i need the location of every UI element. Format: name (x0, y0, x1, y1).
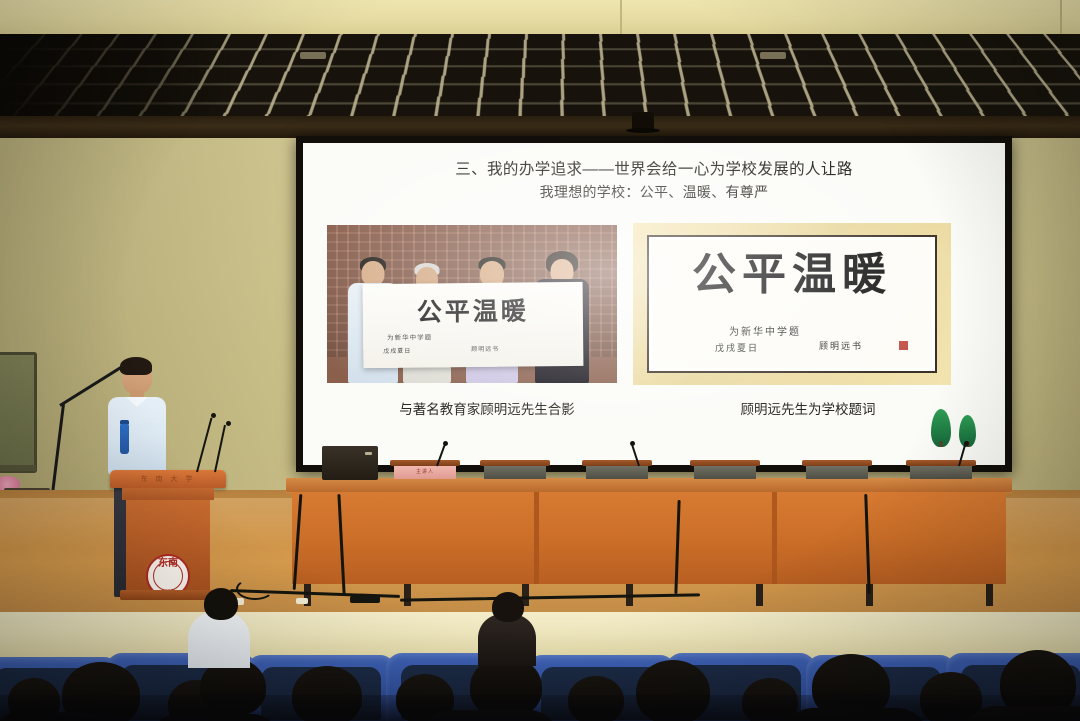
slide-photo-group: 公平温暖 为新华中学题 戊戌夏日 顾明远书 (327, 225, 617, 383)
slide-artwork: 公平温暖 为新华中学题 戊戌夏日 顾明远书 (633, 223, 951, 385)
podium-body: 东南 1902 (126, 500, 210, 592)
name-card-text: 主讲人 (394, 466, 456, 479)
table-microphone-head-1 (443, 441, 448, 446)
laptop (322, 446, 378, 480)
name-card-holder-4 (690, 460, 760, 480)
front-row-person-body (188, 612, 250, 668)
auditorium-scene: 三、我的办学追求——世界会给一心为学校发展的人让路 我理想的学校：公平、温暖、有… (0, 0, 1080, 721)
emblem-character: 东南 (148, 559, 188, 569)
water-bottle (120, 424, 129, 454)
stage-cable-loop (236, 578, 274, 600)
presenter-shirt (108, 397, 166, 475)
ceiling-projector-icon (632, 112, 654, 132)
podium-microphone-head-2 (226, 421, 231, 426)
front-row-person-head (204, 588, 238, 620)
name-card-holder-2 (480, 460, 550, 480)
podium: 东 南 大 学 东南 1902 (118, 470, 218, 600)
slide-surface: 三、我的办学追求——世界会给一心为学校发展的人让路 我理想的学校：公平、温暖、有… (303, 143, 1005, 465)
artwork-seal-icon (899, 341, 908, 350)
name-card-holder-6 (906, 460, 976, 480)
photo-banner-inscription-1: 为新华中学题 (387, 331, 432, 341)
artwork-inscription-3: 顾明远书 (819, 339, 863, 352)
table-microphone-head-2 (630, 441, 635, 446)
audience-area (0, 640, 1080, 721)
table-microphone-head-3 (964, 441, 969, 446)
podium-microphone-head-1 (211, 413, 216, 418)
wall-board-tray (0, 465, 36, 471)
slide-caption-left: 与著名教育家顾明远先生合影 (337, 398, 637, 418)
wall-board (0, 352, 37, 473)
photo-banner: 公平温暖 为新华中学题 戊戌夏日 顾明远书 (363, 282, 584, 368)
front-row-person-2-head (492, 592, 524, 622)
slide-subtitle: 我理想的学校：公平、温暖、有尊严 (303, 182, 1005, 202)
slide-caption-right: 顾明远先生为学校题词 (653, 398, 963, 418)
conference-table: 主讲人 (286, 478, 1012, 598)
podium-top-surface: 东 南 大 学 (110, 470, 226, 488)
presenter-hair (120, 357, 152, 375)
name-card: 主讲人 (394, 466, 456, 479)
photo-banner-inscription-3: 顾明远书 (471, 344, 499, 353)
artwork-calligraphy: 公平温暖 (649, 253, 935, 297)
ceiling-grille (0, 34, 1080, 120)
podium-nameplate: 东 南 大 学 (110, 474, 226, 484)
photo-banner-inscription-2: 戊戌夏日 (383, 346, 411, 355)
ceiling-soffit (0, 0, 1080, 36)
artwork-inscription-1: 为新华中学题 (729, 323, 801, 338)
slide-title: 三、我的办学追求——世界会给一心为学校发展的人让路 (303, 157, 1005, 179)
name-card-holder-3 (582, 460, 652, 480)
name-card-holder-1: 主讲人 (390, 460, 460, 480)
photo-banner-text: 公平温暖 (363, 291, 583, 329)
floor-connector-2 (296, 598, 308, 604)
name-card-holder-5 (802, 460, 872, 480)
ceiling-beam (0, 116, 1080, 138)
slide-tree-decoration (931, 407, 983, 451)
floor-power-box (350, 596, 380, 603)
artwork-frame: 公平温暖 为新华中学题 戊戌夏日 顾明远书 (647, 235, 937, 373)
artwork-inscription-2: 戊戌夏日 (715, 341, 759, 354)
projection-screen: 三、我的办学追求——世界会给一心为学校发展的人让路 我理想的学校：公平、温暖、有… (296, 136, 1012, 472)
